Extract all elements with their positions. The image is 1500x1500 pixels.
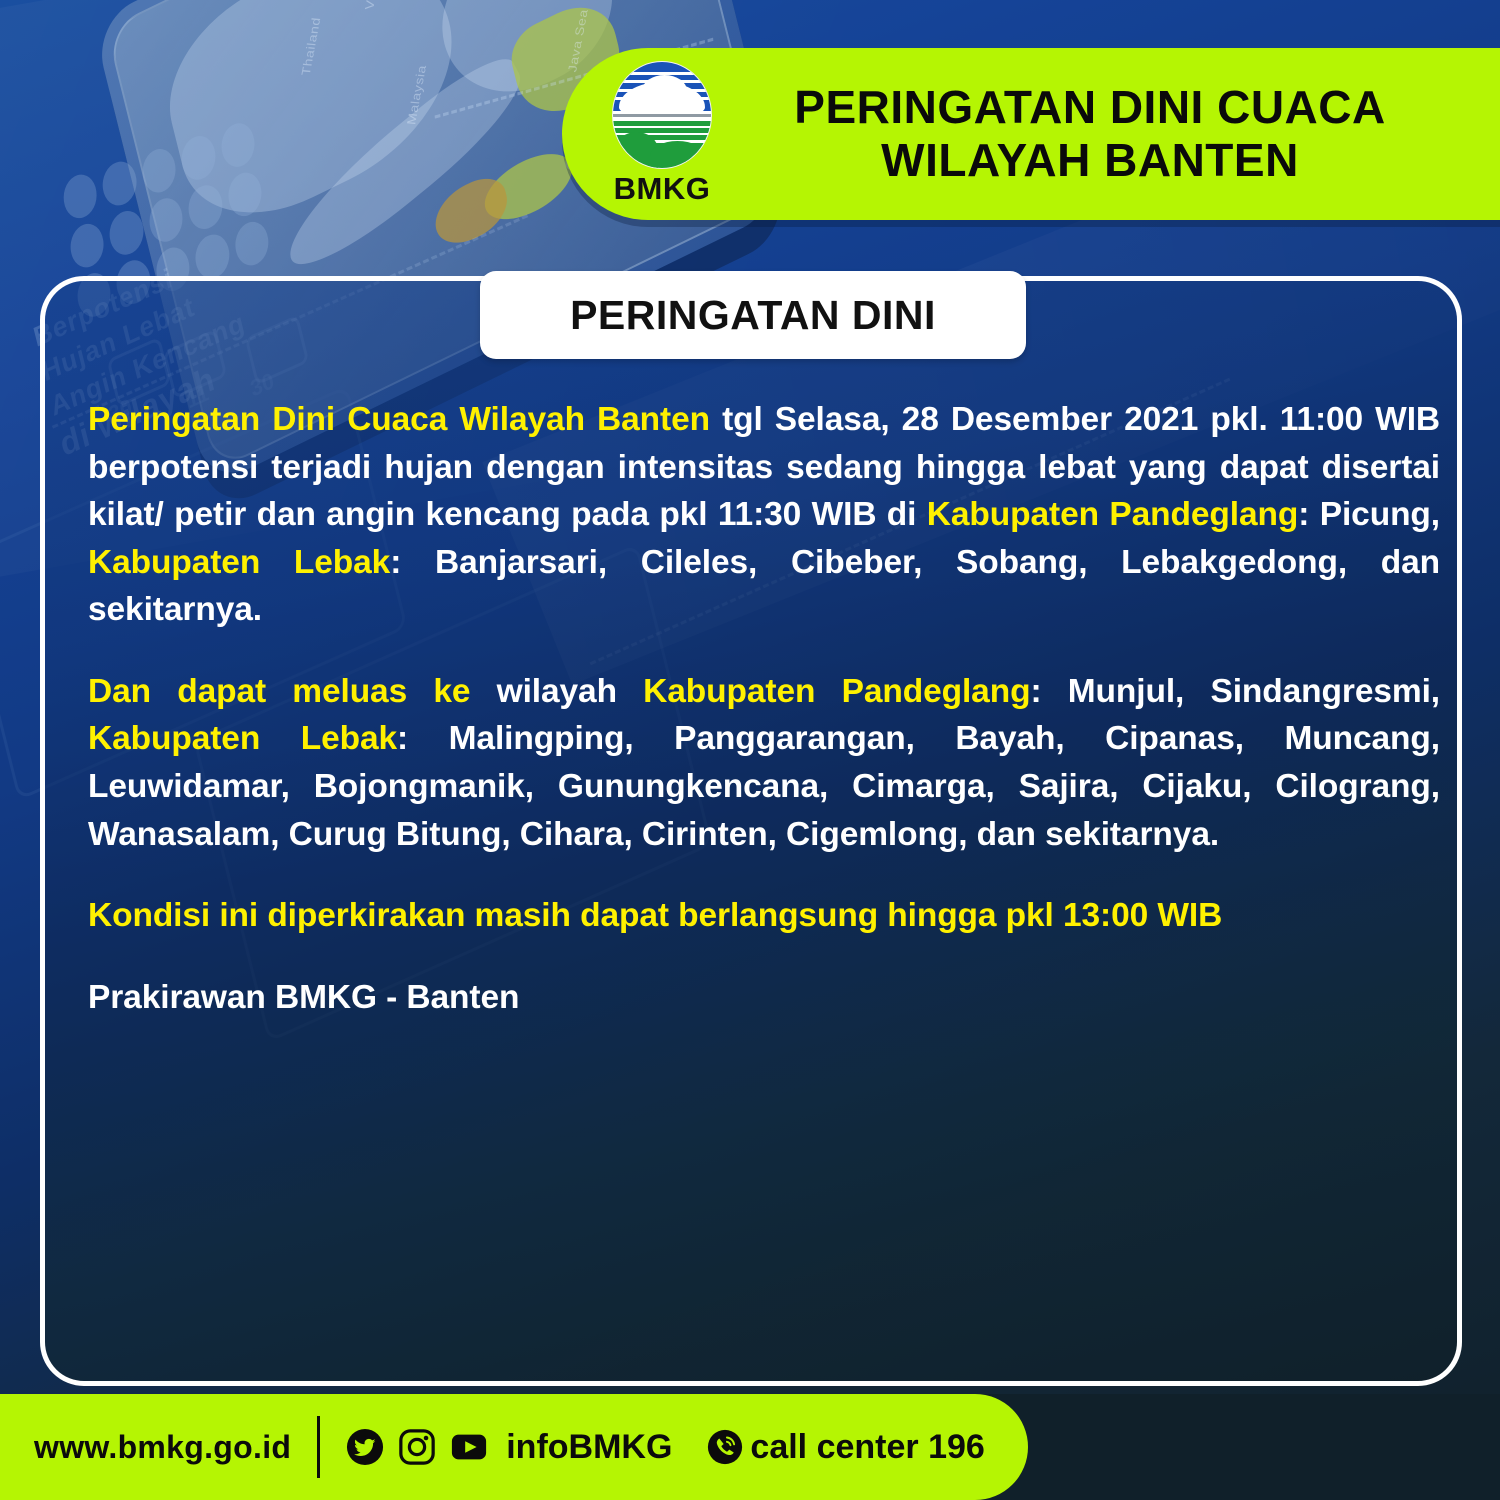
instagram-icon[interactable]: [398, 1428, 436, 1466]
bmkg-logo-text: BMKG: [614, 171, 711, 207]
youtube-icon[interactable]: [450, 1428, 488, 1466]
logo-land-stripe: [613, 121, 711, 126]
card-title-text: PERINGATAN DINI: [570, 292, 936, 339]
page-title: PERINGATAN DINI CUACA WILAYAH BANTEN: [732, 81, 1500, 188]
landmass-island-orange: [430, 168, 513, 254]
logo-land: [613, 117, 711, 168]
phone-icon: [706, 1428, 744, 1466]
landmass-sumatra: [274, 41, 533, 287]
logo-hill: [650, 141, 705, 169]
footer-green-pill: www.bmkg.go.id: [0, 1394, 1028, 1500]
landmass-mainland: [152, 0, 474, 250]
p1-highlight-lebak: Kabupaten Lebak: [88, 544, 390, 581]
warning-body: Peringatan Dini Cuaca Wilayah Banten tgl…: [88, 396, 1440, 1021]
p2-highlight-lebak: Kabupaten Lebak: [88, 720, 397, 757]
footer-social-handle: infoBMKG: [506, 1428, 672, 1467]
map-label-vietnam: Vietnam: [362, 0, 386, 10]
page-title-line2: WILAYAH BANTEN: [732, 134, 1448, 187]
paragraph-4-signature: Prakirawan BMKG - Banten: [88, 974, 1440, 1022]
header-banner: BMKG PERINGATAN DINI CUACA WILAYAH BANTE…: [562, 48, 1500, 220]
footer-website-link[interactable]: www.bmkg.go.id: [34, 1429, 291, 1466]
p1-text-b: : Picung,: [1298, 496, 1440, 533]
p2-text-b: : Munjul, Sindangresmi,: [1030, 673, 1440, 710]
card-title-badge: PERINGATAN DINI: [480, 271, 1026, 359]
map-label-thailand: Thailand: [299, 17, 324, 76]
footer-divider: [317, 1416, 320, 1478]
twitter-icon[interactable]: [346, 1428, 384, 1466]
footer-social-icons: [346, 1428, 488, 1466]
footer-call-center-label: call center 196: [750, 1428, 984, 1467]
p2-highlight-intro: Dan dapat meluas ke: [88, 673, 470, 710]
page-title-line1: PERINGATAN DINI CUACA: [732, 81, 1448, 134]
paragraph-3-duration: Kondisi ini diperkirakan masih dapat ber…: [88, 892, 1440, 940]
landmass-island-green: [479, 141, 578, 233]
map-label-java-sea: Java Sea: [565, 9, 590, 73]
p1-highlight-headline: Peringatan Dini Cuaca Wilayah Banten: [88, 401, 710, 438]
footer-call-center[interactable]: call center 196: [706, 1428, 984, 1467]
p2-highlight-pandeglang: Kabupaten Pandeglang: [643, 673, 1030, 710]
p2-text-a: wilayah: [470, 673, 643, 710]
paragraph-1: Peringatan Dini Cuaca Wilayah Banten tgl…: [88, 396, 1440, 634]
paragraph-2: Dan dapat meluas ke wilayah Kabupaten Pa…: [88, 668, 1440, 858]
bmkg-logo-icon: [612, 61, 712, 169]
infographic-root: Thailand Vietnam South China Sea Philipp…: [0, 0, 1500, 1500]
footer-bar: www.bmkg.go.id: [0, 1394, 1500, 1500]
bmkg-logo: BMKG: [592, 61, 732, 207]
map-label-malaysia: Malaysia: [404, 64, 429, 125]
p1-highlight-pandeglang: Kabupaten Pandeglang: [927, 496, 1298, 533]
